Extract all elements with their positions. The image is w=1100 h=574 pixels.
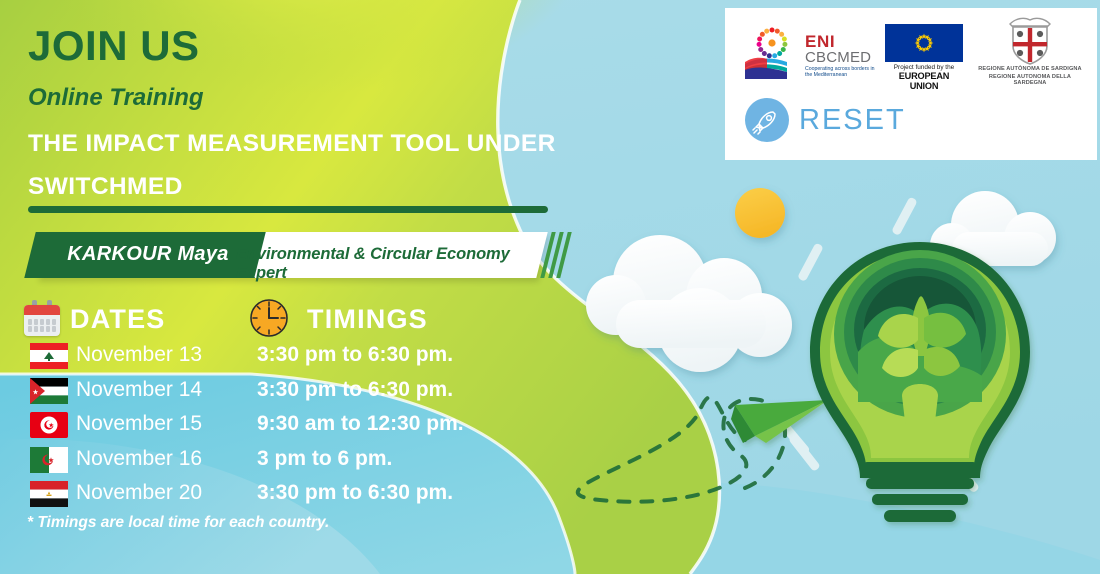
- speaker-role: Environmental & Circular Economy Expert: [236, 245, 536, 283]
- jordan-flag: [30, 378, 68, 404]
- speaker-name: KARKOUR Maya: [48, 243, 248, 266]
- sun-shape: [735, 188, 785, 238]
- schedule-date: November 16: [76, 447, 202, 471]
- page-title: THE IMPACT MEASUREMENT TOOL UNDER SWITCH…: [28, 122, 568, 208]
- schedule-row: November 14 3:30 pm to 6:30 pm.: [0, 377, 560, 407]
- schedule-time: 3:30 pm to 6:30 pm.: [257, 481, 453, 505]
- schedule-time: 9:30 am to 12:30 pm.: [257, 412, 464, 436]
- eni-waves-icon: [745, 58, 787, 79]
- clock-icon: [249, 298, 289, 338]
- column-header-timings: TIMINGS: [307, 304, 428, 335]
- schedule-date: November 13: [76, 343, 202, 367]
- kicker-join-us: JOIN US: [28, 22, 200, 70]
- schedule-date: November 15: [76, 412, 202, 436]
- subtitle-online-training: Online Training: [28, 84, 204, 112]
- speaker-banner: KARKOUR Maya Environmental & Circular Ec…: [14, 232, 584, 280]
- footnote: * Timings are local time for each countr…: [27, 514, 329, 532]
- schedule-time: 3:30 pm to 6:30 pm.: [257, 378, 453, 402]
- egypt-flag: [30, 481, 68, 507]
- schedule-list: November 13 3:30 pm to 6:30 pm. November…: [0, 342, 560, 515]
- tunisia-flag: [30, 412, 68, 438]
- sardinia-caption-sardinian: REGIONE AUTÒNOMA DE SARDIGNA: [975, 66, 1085, 72]
- logo-panel: ENI CBCMED Cooperating across borders in…: [725, 8, 1097, 160]
- reset-logo: RESET: [739, 94, 919, 146]
- schedule-date: November 20: [76, 481, 202, 505]
- european-union-logo: Project funded by the EUROPEAN UNION: [885, 24, 963, 86]
- eni-sun-icon: [756, 28, 787, 59]
- schedule-time: 3 pm to 6 pm.: [257, 447, 392, 471]
- divider-rule: [28, 206, 548, 213]
- eu-caption-large: EUROPEAN UNION: [885, 71, 963, 91]
- lebanon-flag: [30, 343, 68, 369]
- algeria-flag: [30, 447, 68, 473]
- eni-cbcmed-logo: ENI CBCMED Cooperating across borders in…: [743, 26, 883, 84]
- eni-tagline: Cooperating across borders in the Medite…: [805, 66, 883, 79]
- sardinia-region-logo: REGIONE AUTÒNOMA DE SARDIGNA REGIONE AUT…: [975, 22, 1085, 86]
- schedule-row: November 16 3 pm to 6 pm.: [0, 446, 560, 476]
- reset-wordmark: RESET: [799, 104, 906, 137]
- column-header-dates: DATES: [70, 304, 166, 335]
- schedule-row: November 20 3:30 pm to 6:30 pm.: [0, 480, 560, 510]
- schedule-row: November 15 9:30 am to 12:30 pm.: [0, 411, 560, 441]
- headline-block: JOIN US Online Training THE IMPACT MEASU…: [0, 0, 620, 574]
- schedule-time: 3:30 pm to 6:30 pm.: [257, 343, 453, 367]
- eni-subtitle: CBCMED: [805, 49, 871, 66]
- schedule-date: November 14: [76, 378, 202, 402]
- sardinia-crest-icon: [1010, 18, 1050, 64]
- schedule-row: November 13 3:30 pm to 6:30 pm.: [0, 342, 560, 372]
- eu-caption-small: Project funded by the: [885, 64, 963, 71]
- calendar-icon: [24, 300, 60, 336]
- sardinia-caption-italian: REGIONE AUTONOMA DELLA SARDEGNA: [975, 74, 1085, 86]
- poster-canvas: JOIN US Online Training THE IMPACT MEASU…: [0, 0, 1100, 574]
